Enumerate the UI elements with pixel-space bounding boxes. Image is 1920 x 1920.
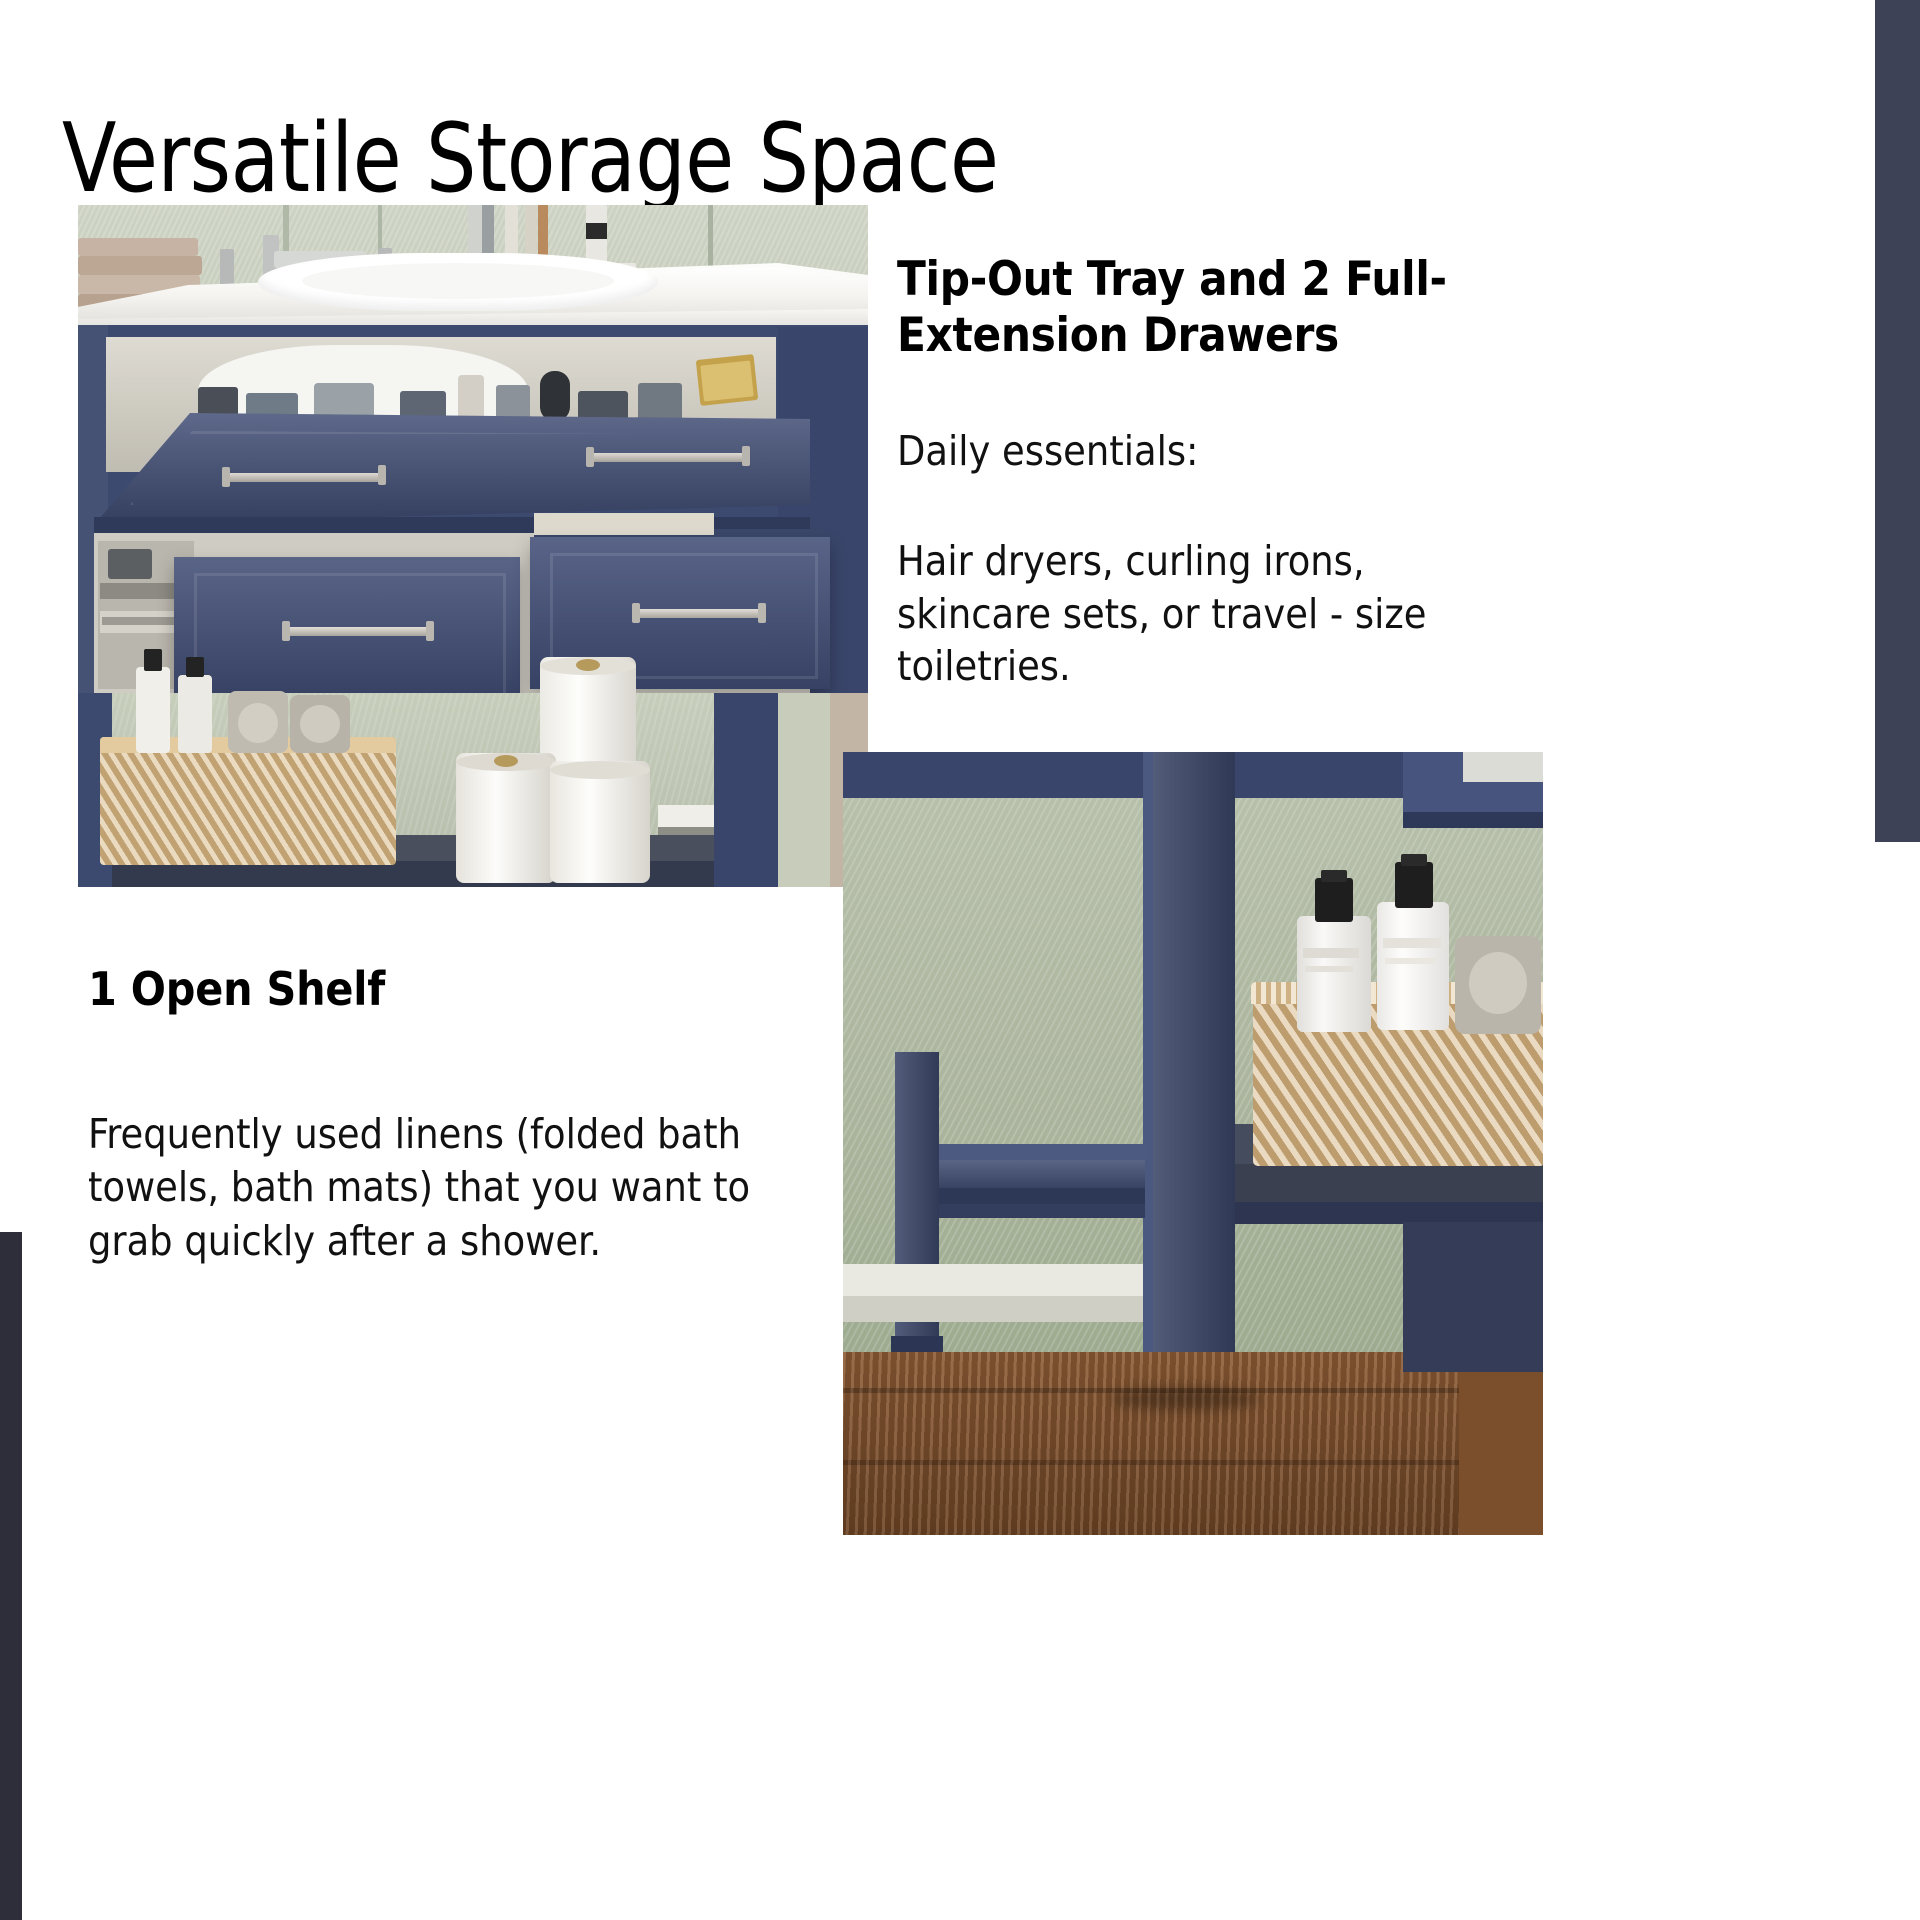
feature-shelf-body: Frequently used linens (folded bath towe… [88, 1108, 828, 1268]
feature-drawers-body: Hair dryers, curling irons, skincare set… [897, 535, 1507, 692]
accent-bar-right [1875, 0, 1920, 842]
accent-bar-left [0, 1232, 22, 1920]
feature-shelf-heading: 1 Open Shelf [88, 962, 848, 1016]
shelf-photo [843, 752, 1543, 1535]
page-title: Versatile Storage Space [62, 110, 998, 210]
feature-drawers-lead: Daily essentials: [897, 425, 1497, 477]
feature-drawers-heading: Tip-Out Tray and 2 Full-Extension Drawer… [897, 252, 1497, 365]
drawers-photo [78, 205, 868, 887]
feature-shelf-block: 1 Open Shelf Frequently used linens (fol… [88, 962, 848, 1268]
feature-drawers-block: Tip-Out Tray and 2 Full-Extension Drawer… [897, 252, 1497, 693]
